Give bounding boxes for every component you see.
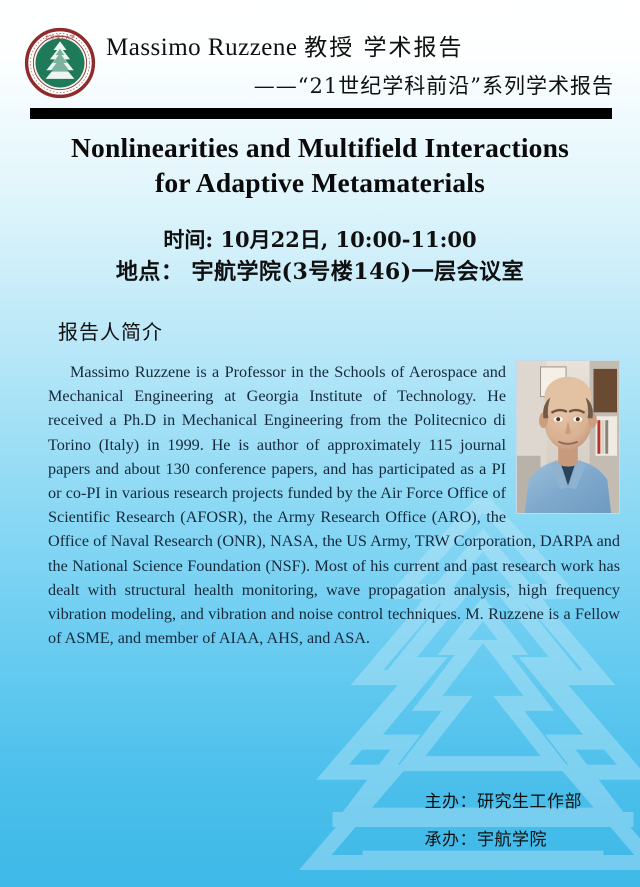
svg-text:北京理工大学: 北京理工大学 — [45, 34, 75, 41]
event-time: 时间: 10月22日, 10:00-11:00 — [36, 224, 604, 256]
poster-header: 北京理工大学 Massimo Ruzzene 教授 学术报告 ——“21世纪学科… — [0, 0, 640, 108]
bio-section: Massimo Ruzzene is a Professor in the Sc… — [48, 360, 620, 650]
title-line-1: Nonlinearities and Multifield Interactio… — [71, 132, 569, 163]
header-divider-bar — [30, 108, 612, 119]
bio-section-heading: 报告人简介 — [58, 316, 163, 345]
event-location: 地点： 宇航学院(3号楼146)一层会议室 — [36, 256, 604, 288]
header-speaker-title-cn: 教授 学术报告 — [304, 35, 463, 61]
header-speaker-line: Massimo Ruzzene 教授 学术报告 — [106, 28, 464, 62]
poster-footer: 主办：研究生工作部 承办：宇航学院 — [425, 783, 583, 859]
poster-root: 北京理工大学 Massimo Ruzzene 教授 学术报告 ——“21世纪学科… — [0, 0, 640, 887]
speaker-portrait-photo — [516, 360, 620, 514]
page-title: Nonlinearities and Multifield Interactio… — [36, 130, 604, 200]
header-series-line: ——“21世纪学科前沿”系列学术报告 — [254, 70, 614, 100]
university-seal-icon: 北京理工大学 — [24, 27, 96, 99]
footer-co-organizer: 承办：宇航学院 — [425, 821, 583, 859]
footer-organizer: 主办：研究生工作部 — [425, 783, 583, 821]
header-speaker-name: Massimo Ruzzene — [106, 34, 297, 61]
event-details: 时间: 10月22日, 10:00-11:00 地点： 宇航学院(3号楼146)… — [36, 224, 604, 288]
title-line-2: for Adaptive Metamaterials — [36, 165, 604, 200]
